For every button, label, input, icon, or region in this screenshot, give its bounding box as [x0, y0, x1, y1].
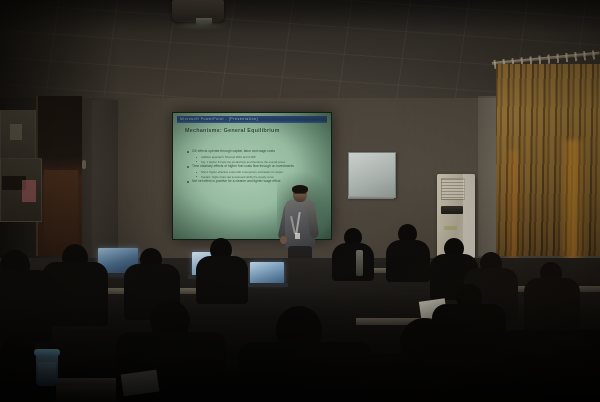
attendee-body — [500, 330, 600, 402]
ac-side-highlight — [463, 174, 475, 258]
glasses-icon — [294, 192, 306, 194]
laptop-screen[interactable] — [250, 262, 284, 284]
attendee-body — [360, 354, 510, 402]
ac-grille-icon — [441, 178, 465, 200]
notice-pink-poster — [22, 180, 36, 202]
cabinet-label-plate — [10, 124, 22, 140]
curtain-sunlight-highlight-2 — [505, 150, 521, 270]
laptop-base — [246, 283, 288, 287]
lecture-room-photo: Microsoft PowerPoint - [Presentation] Me… — [0, 0, 600, 402]
ceiling-shadow-top — [0, 0, 600, 34]
attendee-body — [238, 342, 372, 402]
attendee-body — [0, 270, 52, 342]
ac-vent-icon — [441, 206, 463, 214]
whiteboard — [348, 152, 396, 198]
ac-logo — [444, 226, 457, 230]
presenter-badge — [295, 233, 300, 239]
cup-lid-icon — [34, 349, 60, 356]
cup-highlight — [38, 362, 56, 386]
whiteboard-marker-tray — [348, 196, 394, 199]
attendee-body — [196, 256, 248, 304]
attendee-body — [524, 278, 580, 334]
presenter-hand — [280, 236, 287, 244]
door-handle-icon[interactable] — [82, 160, 86, 169]
attendee-body — [332, 243, 374, 281]
curtain-sunlight-highlight — [560, 140, 586, 270]
projector-beam — [170, 22, 230, 28]
water-bottle[interactable] — [356, 250, 363, 276]
attendee-body — [386, 240, 430, 282]
